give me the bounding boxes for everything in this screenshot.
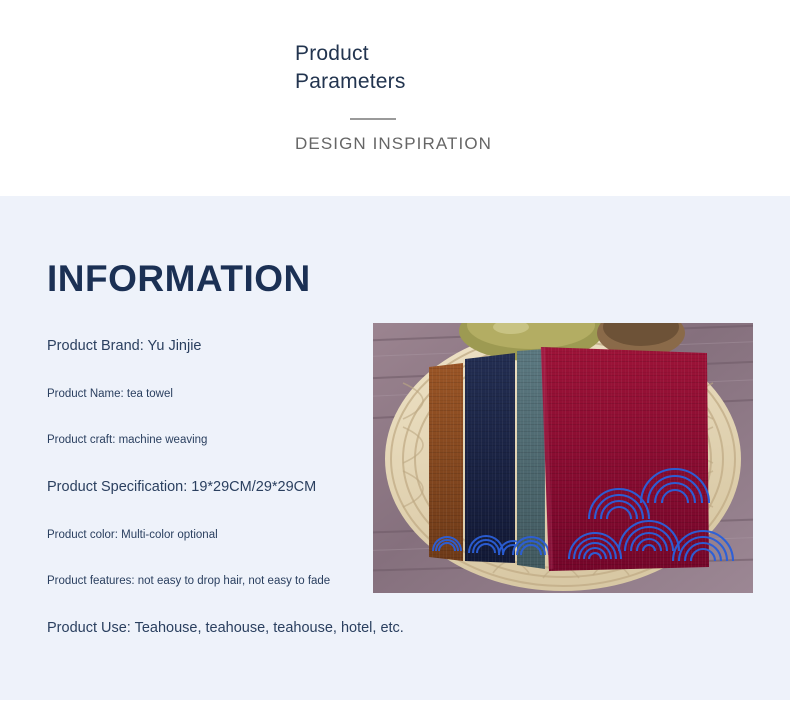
product-photo-illustration bbox=[373, 323, 753, 593]
spec-row-specification: Product Specification: 19*29CM/29*29CM bbox=[47, 478, 357, 497]
horizontal-rule-icon bbox=[350, 118, 396, 120]
product-spec-list: Product Brand: Yu Jinjie Product Name: t… bbox=[47, 337, 357, 638]
spec-row-color: Product color: Multi-color optional bbox=[47, 527, 357, 543]
hero-content: Product Parameters DESIGN INSPIRATION bbox=[295, 40, 535, 155]
information-panel: INFORMATION Product Brand: Yu Jinjie Pro… bbox=[0, 196, 790, 700]
page-title: Product Parameters bbox=[295, 40, 485, 96]
spec-row-brand: Product Brand: Yu Jinjie bbox=[47, 337, 357, 356]
spec-row-craft: Product craft: machine weaving bbox=[47, 432, 357, 448]
product-photo-tea-towels bbox=[373, 323, 753, 593]
spec-row-use: Product Use: Teahouse, teahouse, teahous… bbox=[47, 619, 357, 638]
spec-row-name: Product Name: tea towel bbox=[47, 386, 357, 402]
hero-subtitle: DESIGN INSPIRATION bbox=[295, 133, 535, 155]
hero-banner: Product Parameters DESIGN INSPIRATION bbox=[0, 0, 790, 196]
spec-row-features: Product features: not easy to drop hair,… bbox=[47, 573, 357, 589]
section-heading-information: INFORMATION bbox=[47, 258, 311, 300]
